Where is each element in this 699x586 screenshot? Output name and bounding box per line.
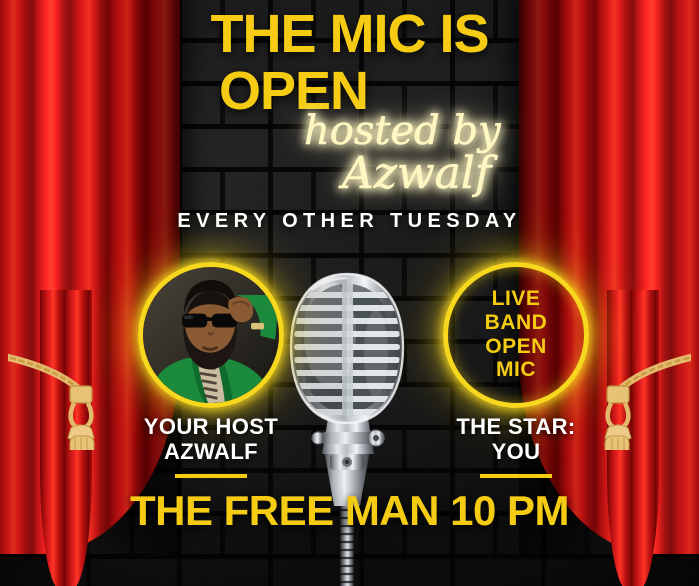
circle-text-line-4: MIC	[496, 359, 536, 382]
host-portrait-circle	[138, 262, 284, 408]
host-caption: YOUR HOST AZWALF	[96, 415, 326, 478]
star-caption-underline	[480, 474, 552, 478]
star-caption: THE STAR: YOU	[401, 415, 631, 478]
event-frequency-subtitle: EVERY OTHER TUESDAY	[0, 210, 699, 233]
venue-time-banner: THE FREE MAN 10 PM	[0, 487, 699, 535]
neon-script-line-2: Azwalf	[338, 148, 498, 199]
neon-script-tagline: hosted by Azwalf	[300, 104, 560, 196]
headline-line-1: THE MIC IS	[0, 8, 699, 61]
circle-text-line-3: OPEN	[485, 336, 547, 359]
host-caption-line-1: YOUR HOST	[96, 415, 326, 440]
host-portrait-image	[143, 267, 279, 403]
open-mic-flyer: THE MIC IS OPEN hosted by Azwa	[0, 0, 699, 586]
star-caption-line-2: YOU	[401, 440, 631, 465]
host-caption-line-2: AZWALF	[96, 440, 326, 465]
flyer-headline: THE MIC IS OPEN	[0, 8, 699, 118]
live-band-open-mic-circle: LIVE BAND OPEN MIC	[443, 262, 589, 408]
host-caption-underline	[175, 474, 247, 478]
circle-text-line-2: BAND	[485, 312, 548, 335]
circle-text-line-1: LIVE	[492, 288, 541, 311]
star-caption-line-1: THE STAR:	[401, 415, 631, 440]
